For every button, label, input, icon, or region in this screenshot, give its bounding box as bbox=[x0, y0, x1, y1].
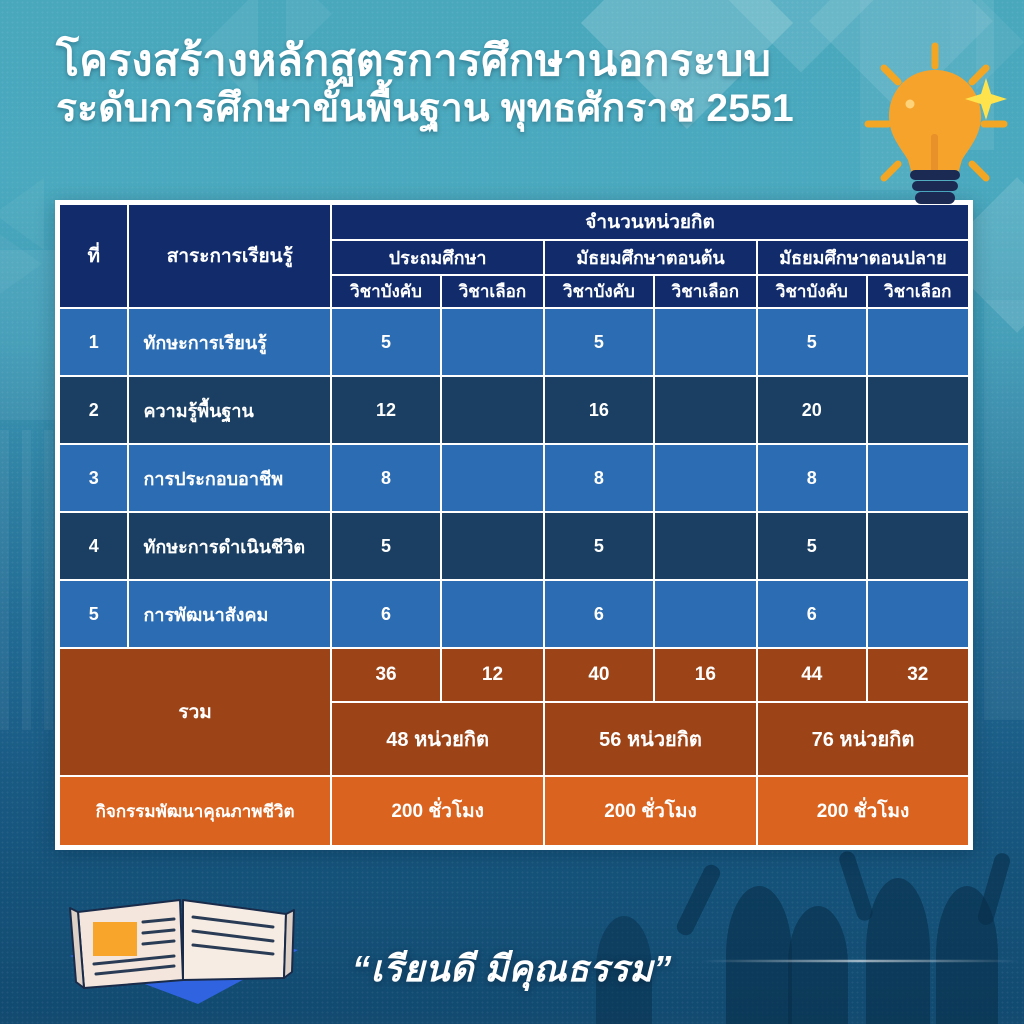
cell-uppersec-elective bbox=[868, 377, 968, 443]
total-uppersec-elective: 32 bbox=[868, 649, 968, 701]
grand-total-primary: 48 หน่วยกิต bbox=[332, 703, 543, 775]
cell-primary-elective bbox=[442, 309, 543, 375]
silhouette-arm-1 bbox=[674, 862, 723, 938]
bg-band-left bbox=[0, 250, 58, 420]
cell-lowersec-elective bbox=[655, 581, 756, 647]
col-header-subject: สาระการเรียนรู้ bbox=[129, 205, 330, 307]
curriculum-table: ที่ สาระการเรียนรู้ จำนวนหน่วยกิต ประถมศ… bbox=[55, 200, 973, 850]
cell-uppersec-required: 8 bbox=[758, 445, 866, 511]
table-header-row-1: ที่ สาระการเรียนรู้ จำนวนหน่วยกิต bbox=[60, 205, 968, 239]
cell-primary-elective bbox=[442, 581, 543, 647]
grand-total-lowersec: 56 หน่วยกิต bbox=[545, 703, 756, 775]
cell-primary-elective bbox=[442, 445, 543, 511]
silhouette-arm-2 bbox=[837, 849, 874, 922]
grand-total-uppersec: 76 หน่วยกิต bbox=[758, 703, 968, 775]
col-header-elective-3: วิชาเลือก bbox=[868, 276, 968, 307]
cell-lowersec-required: 5 bbox=[545, 309, 653, 375]
footer-slogan: “เรียนดี มีคุณธรรม” bbox=[0, 940, 1024, 997]
col-header-required-2: วิชาบังคับ bbox=[545, 276, 653, 307]
activity-primary: 200 ชั่วโมง bbox=[332, 777, 543, 845]
table-row: 1 ทักษะการเรียนรู้ 5 5 5 bbox=[60, 309, 968, 375]
cell-primary-required: 6 bbox=[332, 581, 440, 647]
col-header-elective-1: วิชาเลือก bbox=[442, 276, 543, 307]
row-no: 2 bbox=[60, 377, 127, 443]
cell-uppersec-elective bbox=[868, 309, 968, 375]
col-header-elective-2: วิชาเลือก bbox=[655, 276, 756, 307]
col-header-level-upper-sec: มัธยมศึกษาตอนปลาย bbox=[758, 241, 968, 274]
total-primary-required: 36 bbox=[332, 649, 440, 701]
cell-primary-elective bbox=[442, 513, 543, 579]
cell-primary-required: 5 bbox=[332, 513, 440, 579]
col-header-no: ที่ bbox=[60, 205, 127, 307]
total-lowersec-elective: 16 bbox=[655, 649, 756, 701]
activity-lowersec: 200 ชั่วโมง bbox=[545, 777, 756, 845]
cell-uppersec-required: 5 bbox=[758, 309, 866, 375]
total-uppersec-required: 44 bbox=[758, 649, 866, 701]
cell-primary-required: 12 bbox=[332, 377, 440, 443]
poster-title: โครงสร้างหลักสูตรการศึกษานอกระบบ ระดับกา… bbox=[56, 38, 876, 131]
total-label: รวม bbox=[60, 649, 330, 775]
title-line-2: ระดับการศึกษาขั้นพื้นฐาน พุทธศักราช 2551 bbox=[56, 88, 876, 130]
cell-primary-required: 8 bbox=[332, 445, 440, 511]
poster-canvas: โครงสร้างหลักสูตรการศึกษานอกระบบ ระดับกา… bbox=[0, 0, 1024, 1024]
table-row: 2 ความรู้พื้นฐาน 12 16 20 bbox=[60, 377, 968, 443]
cell-uppersec-required: 20 bbox=[758, 377, 866, 443]
cell-uppersec-elective bbox=[868, 513, 968, 579]
cell-lowersec-required: 8 bbox=[545, 445, 653, 511]
table-activity-row: กิจกรรมพัฒนาคุณภาพชีวิต 200 ชั่วโมง 200 … bbox=[60, 777, 968, 845]
col-header-required-3: วิชาบังคับ bbox=[758, 276, 866, 307]
total-lowersec-required: 40 bbox=[545, 649, 653, 701]
title-line-1: โครงสร้างหลักสูตรการศึกษานอกระบบ bbox=[56, 38, 876, 84]
activity-label: กิจกรรมพัฒนาคุณภาพชีวิต bbox=[60, 777, 330, 845]
cell-lowersec-elective bbox=[655, 309, 756, 375]
table-total-row: รวม 36 12 40 16 44 32 bbox=[60, 649, 968, 701]
row-subject: การประกอบอาชีพ bbox=[129, 445, 330, 511]
cell-lowersec-required: 6 bbox=[545, 581, 653, 647]
cell-uppersec-elective bbox=[868, 445, 968, 511]
row-no: 1 bbox=[60, 309, 127, 375]
row-no: 5 bbox=[60, 581, 127, 647]
cell-primary-elective bbox=[442, 377, 543, 443]
cell-uppersec-elective bbox=[868, 581, 968, 647]
cell-lowersec-elective bbox=[655, 377, 756, 443]
total-primary-elective: 12 bbox=[442, 649, 543, 701]
col-header-level-lower-sec: มัธยมศึกษาตอนต้น bbox=[545, 241, 756, 274]
bg-band-right bbox=[984, 300, 1024, 720]
activity-uppersec: 200 ชั่วโมง bbox=[758, 777, 968, 845]
silhouette-arm-3 bbox=[976, 851, 1012, 927]
row-no: 3 bbox=[60, 445, 127, 511]
cell-primary-required: 5 bbox=[332, 309, 440, 375]
row-no: 4 bbox=[60, 513, 127, 579]
cell-lowersec-elective bbox=[655, 445, 756, 511]
row-subject: การพัฒนาสังคม bbox=[129, 581, 330, 647]
bg-triangle-mid-left-2 bbox=[0, 220, 42, 308]
row-subject: ทักษะการดำเนินชีวิต bbox=[129, 513, 330, 579]
table-row: 3 การประกอบอาชีพ 8 8 8 bbox=[60, 445, 968, 511]
cell-lowersec-elective bbox=[655, 513, 756, 579]
bg-triangle-mid-left bbox=[0, 178, 44, 250]
col-header-required-1: วิชาบังคับ bbox=[332, 276, 440, 307]
col-header-level-primary: ประถมศึกษา bbox=[332, 241, 543, 274]
cell-lowersec-required: 16 bbox=[545, 377, 653, 443]
cell-uppersec-required: 6 bbox=[758, 581, 866, 647]
cell-lowersec-required: 5 bbox=[545, 513, 653, 579]
row-subject: ความรู้พื้นฐาน bbox=[129, 377, 330, 443]
cell-uppersec-required: 5 bbox=[758, 513, 866, 579]
table-row: 4 ทักษะการดำเนินชีวิต 5 5 5 bbox=[60, 513, 968, 579]
lightbulb-icon bbox=[862, 42, 1012, 212]
row-subject: ทักษะการเรียนรู้ bbox=[129, 309, 330, 375]
table-row: 5 การพัฒนาสังคม 6 6 6 bbox=[60, 581, 968, 647]
